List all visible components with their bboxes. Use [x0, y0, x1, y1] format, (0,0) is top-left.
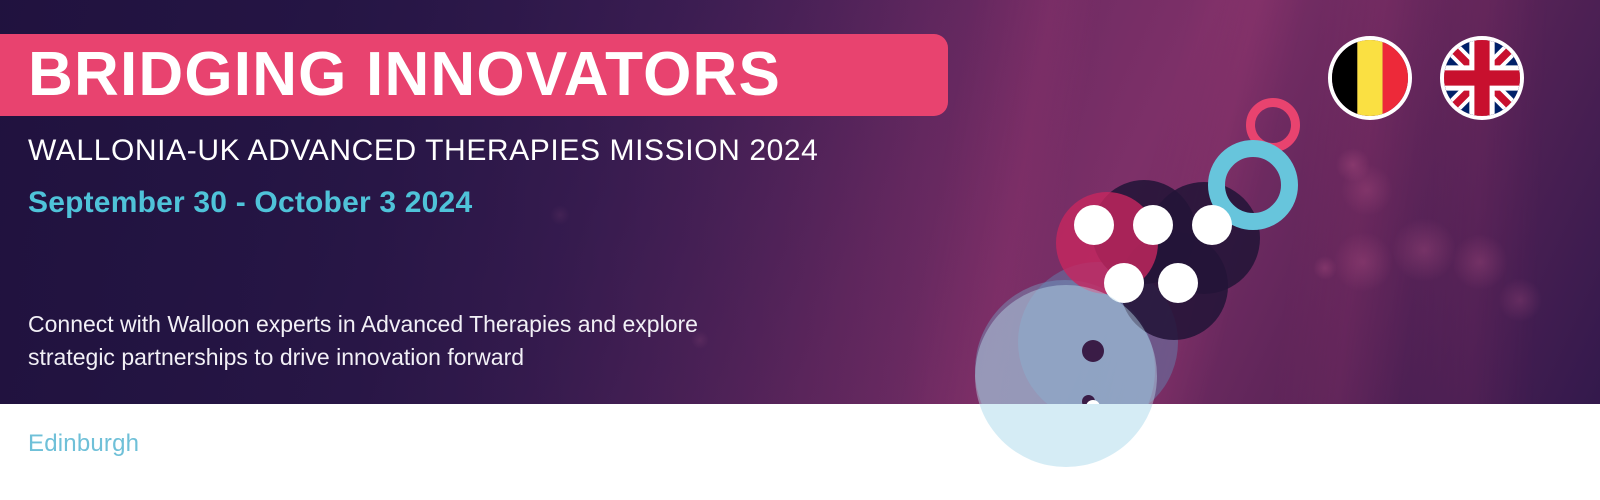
event-banner: BRIDGING INNOVATORS WALLONIA-UK ADVANCED…: [0, 0, 1600, 404]
city-label: Edinburgh: [28, 430, 139, 458]
event-subtitle: WALLONIA-UK ADVANCED THERAPIES MISSION 2…: [28, 134, 818, 168]
footer-strip: Edinburgh: [0, 404, 1600, 500]
tiny-dark-dot-1: [1082, 340, 1104, 362]
event-description-line-2: strategic partnerships to drive innovati…: [28, 341, 698, 374]
banner-page: BRIDGING INNOVATORS WALLONIA-UK ADVANCED…: [0, 0, 1600, 500]
event-description: Connect with Walloon experts in Advanced…: [28, 308, 698, 373]
white-dot-3: [1192, 205, 1232, 245]
white-dot-5: [1158, 263, 1198, 303]
title-banner-bar: BRIDGING INNOVATORS: [0, 34, 948, 116]
page-title: BRIDGING INNOVATORS: [0, 44, 781, 106]
event-dates: September 30 - October 3 2024: [28, 186, 472, 220]
white-dot-1: [1074, 205, 1114, 245]
event-description-line-1: Connect with Walloon experts in Advanced…: [28, 308, 698, 341]
belgium-flag-icon: [1328, 36, 1412, 120]
united-kingdom-flag-icon: [1440, 36, 1524, 120]
white-dot-2: [1133, 205, 1173, 245]
pale-blue-circle-bottom: [975, 404, 1157, 467]
